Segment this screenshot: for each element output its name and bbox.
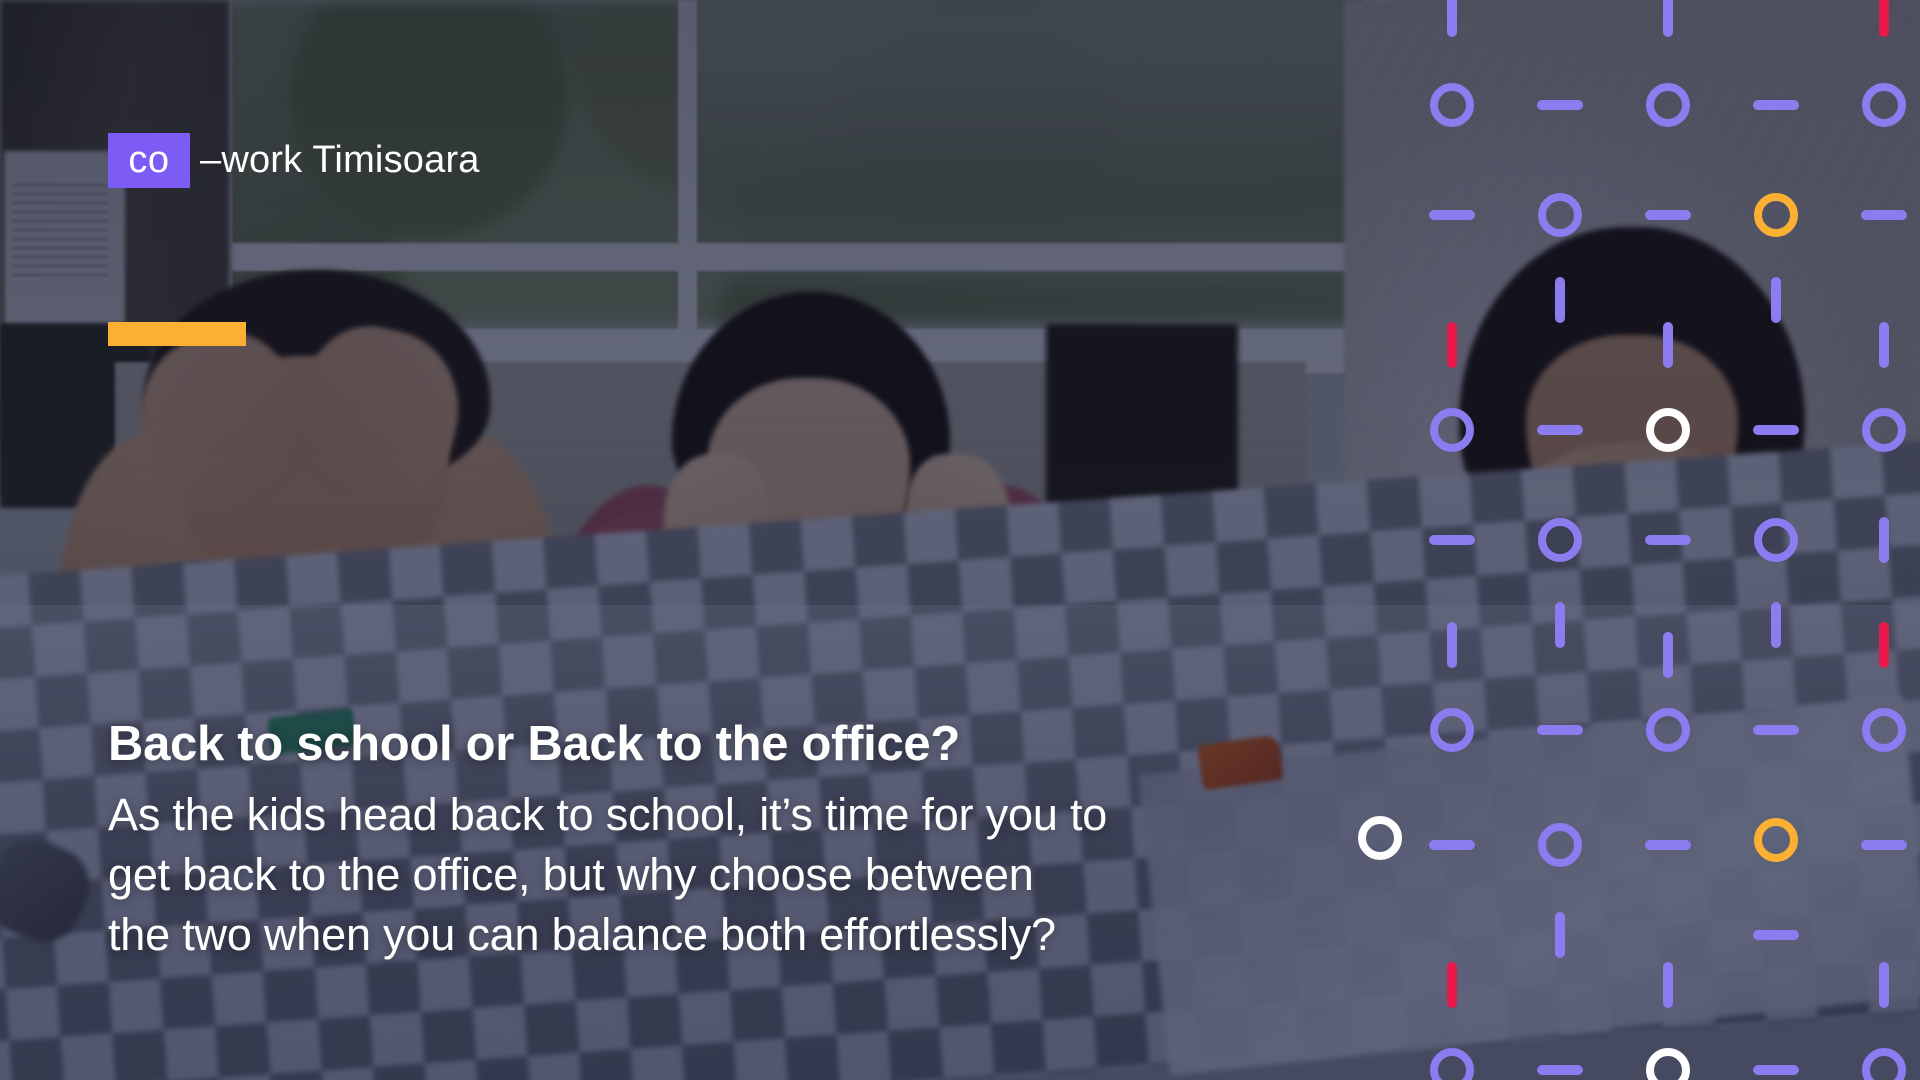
- banner-content: co –work Timisoara Back to school or Bac…: [0, 0, 1920, 1080]
- brand-logo-mark-text: co: [128, 141, 169, 179]
- brand-logo[interactable]: co –work Timisoara: [108, 133, 480, 188]
- body-copy-line: the two when you can balance both effort…: [108, 905, 1107, 965]
- body-copy-line: get back to the office, but why choose b…: [108, 845, 1107, 905]
- page-title: Back to school or Back to the office?: [108, 716, 960, 772]
- brand-logo-mark: co: [108, 133, 190, 188]
- body-copy: As the kids head back to school, it’s ti…: [108, 785, 1107, 965]
- promo-banner: co –work Timisoara Back to school or Bac…: [0, 0, 1920, 1080]
- body-copy-line: As the kids head back to school, it’s ti…: [108, 785, 1107, 845]
- brand-logo-name: –work Timisoara: [200, 139, 480, 182]
- orange-accent-bar: [108, 322, 246, 346]
